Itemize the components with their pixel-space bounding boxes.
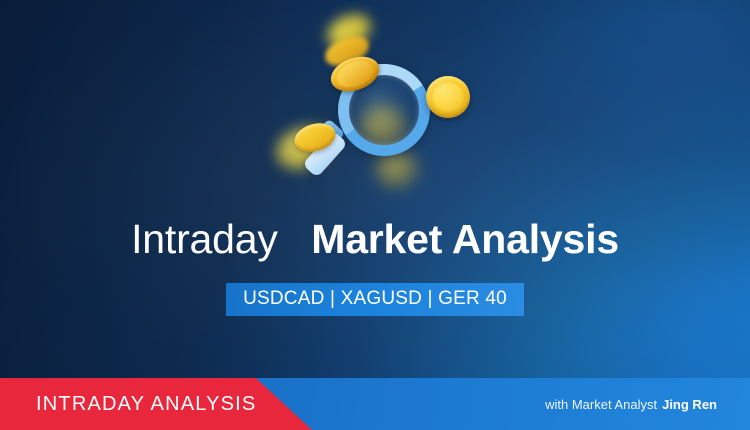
page-title-bold: Market Analysis: [311, 216, 619, 262]
analyst-credit: with Market Analyst Jing Ren: [545, 378, 717, 430]
gold-coin-icon: [426, 76, 470, 118]
hero-artwork: [268, 0, 498, 210]
page-title: Intraday Market Analysis: [0, 219, 750, 260]
instruments-badge-wrapper: USDCAD | XAGUSD | GER 40: [0, 283, 750, 316]
page-title-light: Intraday: [131, 216, 278, 262]
analyst-name: Jing Ren: [662, 397, 717, 412]
intraday-market-analysis-banner: Intraday Market Analysis USDCAD | XAGUSD…: [0, 0, 750, 430]
category-label: INTRADAY ANALYSIS: [36, 378, 256, 430]
instruments-badge: USDCAD | XAGUSD | GER 40: [226, 283, 524, 316]
analyst-credit-prefix: with Market Analyst: [545, 397, 657, 412]
bottom-ribbon: INTRADAY ANALYSIS with Market Analyst Ji…: [0, 378, 750, 430]
